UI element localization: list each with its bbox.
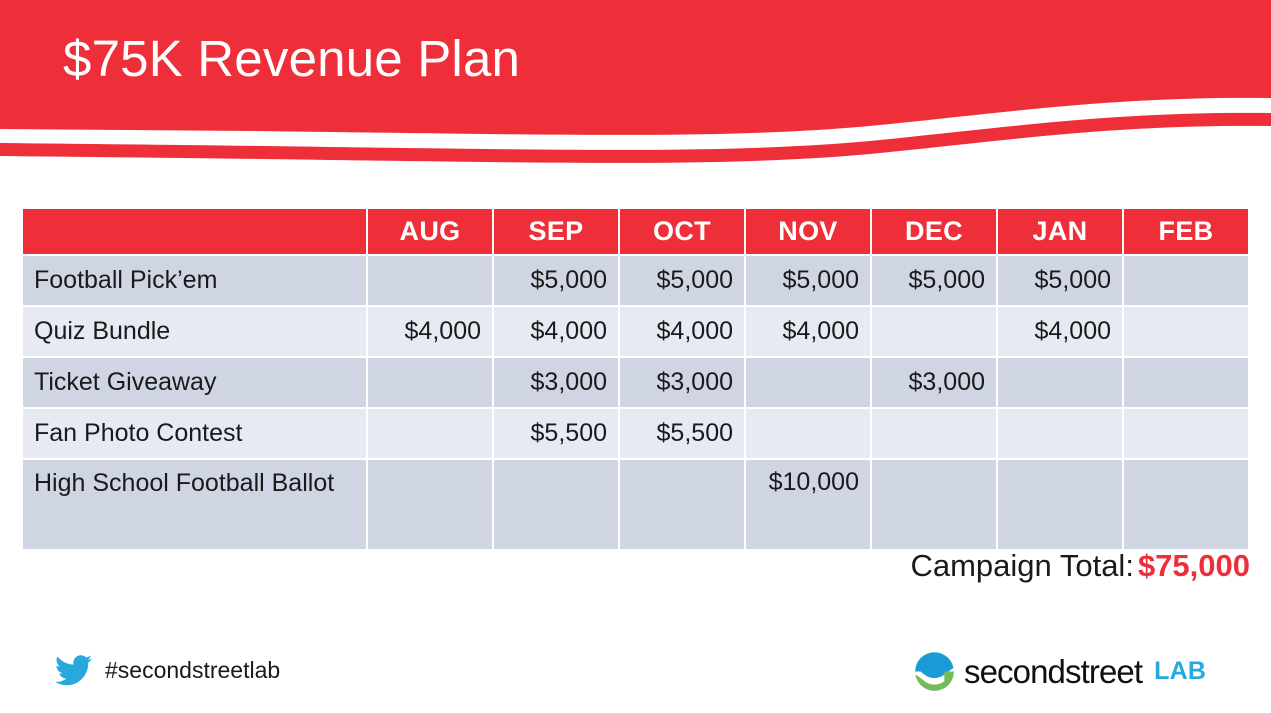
column-header-sep: SEP	[494, 209, 618, 254]
cell-value: $4,000	[998, 307, 1122, 356]
cell-value: $10,000	[746, 460, 870, 549]
cell-value: $4,000	[746, 307, 870, 356]
table-row: High School Football Ballot $10,000	[23, 460, 1248, 549]
revenue-table: AUG SEP OCT NOV DEC JAN FEB Football Pic…	[21, 207, 1250, 551]
brand-logo-group: secondstreet LAB	[914, 651, 1206, 692]
cell-value	[1124, 256, 1248, 305]
cell-value: $5,500	[494, 409, 618, 458]
column-header-feb: FEB	[1124, 209, 1248, 254]
cell-value	[368, 460, 492, 549]
secondstreet-wordmark: secondstreet	[964, 655, 1142, 688]
table-body: Football Pick’em $5,000 $5,000 $5,000 $5…	[23, 256, 1248, 549]
cell-value: $3,000	[620, 358, 744, 407]
column-header-jan: JAN	[998, 209, 1122, 254]
cell-value: $3,000	[494, 358, 618, 407]
campaign-total-amount: $75,000	[1138, 548, 1250, 583]
table-header: AUG SEP OCT NOV DEC JAN FEB	[23, 209, 1248, 254]
column-header-aug: AUG	[368, 209, 492, 254]
cell-value: $4,000	[494, 307, 618, 356]
page-title: $75K Revenue Plan	[63, 30, 520, 89]
cell-value: $3,000	[872, 358, 996, 407]
table-header-row: AUG SEP OCT NOV DEC JAN FEB	[23, 209, 1248, 254]
table-row: Quiz Bundle $4,000 $4,000 $4,000 $4,000 …	[23, 307, 1248, 356]
cell-value	[1124, 460, 1248, 549]
cell-value	[1124, 409, 1248, 458]
row-label: Quiz Bundle	[23, 307, 366, 356]
cell-value: $5,000	[746, 256, 870, 305]
cell-value	[998, 358, 1122, 407]
cell-value	[1124, 358, 1248, 407]
cell-value	[368, 358, 492, 407]
cell-value	[872, 460, 996, 549]
twitter-handle-group[interactable]: #secondstreetlab	[55, 655, 280, 686]
cell-value: $4,000	[368, 307, 492, 356]
cell-value: $5,000	[998, 256, 1122, 305]
column-header-nov: NOV	[746, 209, 870, 254]
cell-value	[368, 256, 492, 305]
column-header-oct: OCT	[620, 209, 744, 254]
cell-value	[368, 409, 492, 458]
table-row: Ticket Giveaway $3,000 $3,000 $3,000	[23, 358, 1248, 407]
cell-value	[1124, 307, 1248, 356]
cell-value	[746, 409, 870, 458]
table-row: Football Pick’em $5,000 $5,000 $5,000 $5…	[23, 256, 1248, 305]
column-header-dec: DEC	[872, 209, 996, 254]
cell-value	[998, 460, 1122, 549]
row-label: High School Football Ballot	[23, 460, 366, 549]
cell-value	[494, 460, 618, 549]
header-banner: $75K Revenue Plan	[0, 0, 1271, 165]
cell-value	[620, 460, 744, 549]
campaign-total: Campaign Total:$75,000	[910, 548, 1250, 584]
row-label: Ticket Giveaway	[23, 358, 366, 407]
cell-value: $5,000	[494, 256, 618, 305]
cell-value	[998, 409, 1122, 458]
cell-value: $5,000	[872, 256, 996, 305]
secondstreet-logo-icon	[914, 651, 955, 692]
cell-value: $4,000	[620, 307, 744, 356]
twitter-icon	[55, 655, 92, 686]
twitter-handle-text: #secondstreetlab	[105, 657, 280, 684]
cell-value	[872, 307, 996, 356]
row-label: Fan Photo Contest	[23, 409, 366, 458]
row-label: Football Pick’em	[23, 256, 366, 305]
cell-value	[872, 409, 996, 458]
campaign-total-label: Campaign Total:	[910, 548, 1133, 583]
table-row: Fan Photo Contest $5,500 $5,500	[23, 409, 1248, 458]
cell-value: $5,000	[620, 256, 744, 305]
column-header-label	[23, 209, 366, 254]
lab-wordmark: LAB	[1154, 659, 1206, 684]
cell-value	[746, 358, 870, 407]
cell-value: $5,500	[620, 409, 744, 458]
